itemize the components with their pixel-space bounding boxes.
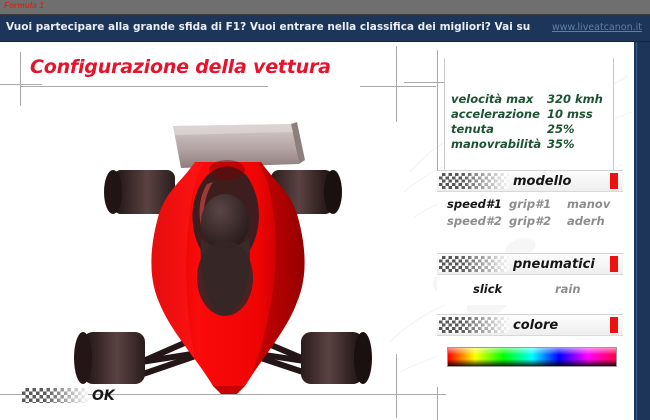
option-grip-1[interactable]: grip#1: [509, 197, 567, 211]
promo-text: Vuoi partecipare alla grande sfida di F1…: [6, 21, 530, 33]
configurator-stage: Configurazione della vettura: [0, 42, 634, 420]
guide-horizontal-title-underline: [20, 86, 268, 87]
guide-horizontal-left: [0, 84, 42, 85]
option-slick[interactable]: slick: [473, 282, 555, 296]
stat-row: manovrabilità 35%: [451, 136, 611, 151]
section-marker-pneumatici[interactable]: [610, 256, 618, 272]
stats-list: velocità max 320 kmh accelerazione 10 ms…: [451, 91, 611, 151]
guide-vertical-right: [437, 50, 438, 174]
stat-row: tenuta 25%: [451, 121, 611, 136]
right-edge-highlight: [636, 42, 637, 420]
option-grip-2[interactable]: grip#2: [509, 214, 567, 228]
ok-button[interactable]: OK: [22, 386, 115, 405]
section-modello: modello speed#1 grip#1 manov speed#2 gri…: [437, 170, 623, 233]
section-header-colore: colore: [437, 314, 623, 336]
checkered-flag-icon: [439, 256, 509, 272]
option-row: speed#1 grip#1 manov: [437, 195, 623, 212]
checkered-flag-icon: [22, 388, 88, 403]
stat-row: velocità max 320 kmh: [451, 91, 611, 106]
option-row: slick rain: [437, 280, 623, 297]
option-manov[interactable]: manov: [567, 197, 610, 211]
stat-value-accelerazione: 10 mss: [547, 107, 593, 121]
car-driver: [197, 194, 253, 316]
stat-label-accelerazione: accelerazione: [451, 107, 547, 121]
promo-link[interactable]: www.liveatcanon.it: [552, 22, 642, 33]
stat-value-tenuta: 25%: [547, 122, 575, 136]
stat-label-velocita-max: velocità max: [451, 92, 547, 106]
section-title-pneumatici: pneumatici: [513, 257, 595, 272]
option-speed-1[interactable]: speed#1: [447, 197, 509, 211]
section-marker-modello[interactable]: [610, 173, 618, 189]
stat-label-manovrabilita: manovrabilità: [451, 137, 547, 151]
ok-button-label: OK: [92, 388, 115, 404]
section-title-colore: colore: [513, 318, 558, 333]
window-title: Formula 1: [4, 1, 44, 10]
option-rain[interactable]: rain: [555, 282, 581, 296]
checkered-flag-icon: [439, 317, 509, 333]
section-title-modello: modello: [513, 174, 571, 189]
car-render-svg: [55, 118, 395, 394]
checkered-flag-icon: [439, 173, 509, 189]
window-titlebar: Formula 1: [0, 0, 650, 15]
section-header-pneumatici: pneumatici: [437, 253, 623, 275]
stats-panel: velocità max 320 kmh accelerazione 10 ms…: [444, 58, 614, 170]
guide-vertical-center: [396, 46, 397, 122]
car-preview: [55, 118, 395, 394]
section-header-modello: modello: [437, 170, 623, 192]
guide-vertical-title-underline: [20, 84, 21, 106]
promo-banner: Vuoi partecipare alla grande sfida di F1…: [0, 15, 650, 42]
application-window: Formula 1 Vuoi partecipare alla grande s…: [0, 0, 650, 420]
option-row: speed#2 grip#2 aderh: [437, 212, 623, 229]
section-body-modello: speed#1 grip#1 manov speed#2 grip#2 ader…: [437, 192, 623, 233]
color-picker-gradient[interactable]: [447, 347, 617, 367]
stat-label-tenuta: tenuta: [451, 122, 547, 136]
option-speed-2[interactable]: speed#2: [447, 214, 509, 228]
page-title: Configurazione della vettura: [30, 56, 331, 78]
guide-horizontal-center: [360, 86, 436, 87]
right-edge-panel: [634, 42, 650, 420]
option-aderh[interactable]: aderh: [567, 214, 605, 228]
guide-vertical-bottom: [396, 354, 397, 418]
car-rear-wing: [173, 122, 305, 168]
section-marker-colore[interactable]: [610, 317, 618, 333]
stat-value-manovrabilita: 35%: [547, 137, 575, 151]
stat-value-velocita-max: 320 kmh: [547, 92, 603, 106]
stat-row: accelerazione 10 mss: [451, 106, 611, 121]
section-pneumatici: pneumatici slick rain: [437, 253, 623, 305]
section-body-pneumatici: slick rain: [437, 275, 623, 305]
